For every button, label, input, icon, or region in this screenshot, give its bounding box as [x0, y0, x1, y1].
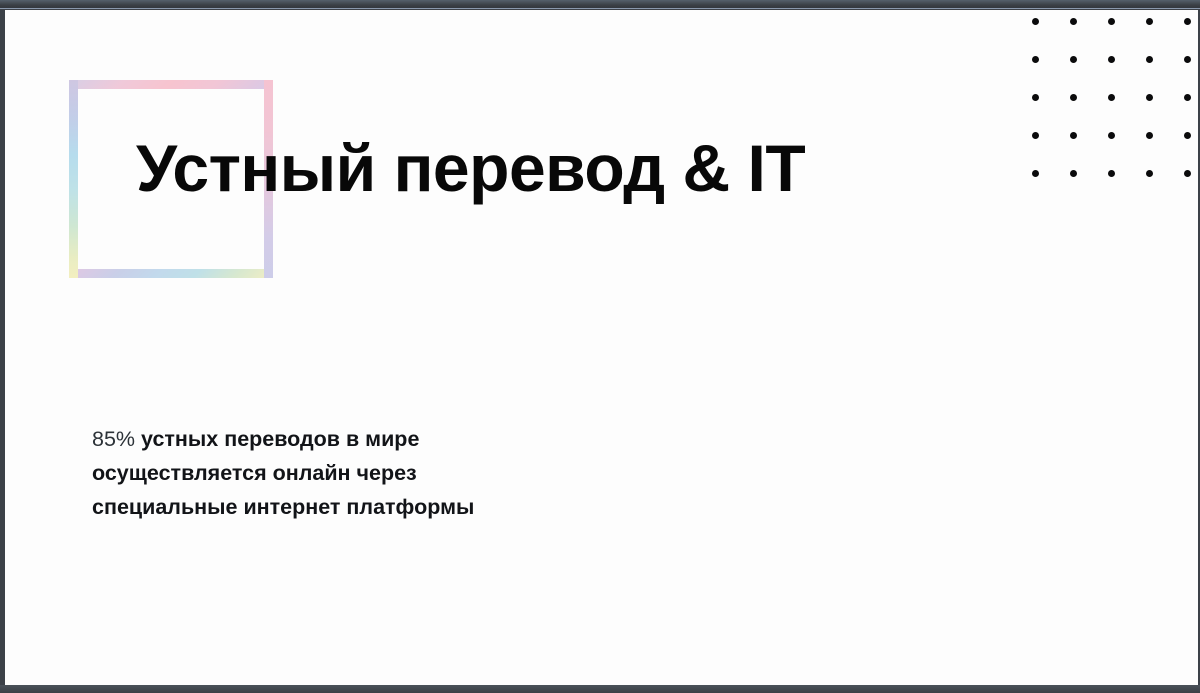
decorative-dot [1108, 56, 1115, 63]
decorative-dot [1070, 56, 1077, 63]
decorative-dot [1032, 170, 1039, 177]
decorative-dot [1032, 132, 1039, 139]
statistic-percent-value: 85% [92, 427, 135, 451]
viewer-top-bar [0, 0, 1200, 9]
slide-canvas: Устный перевод & IT 85% устных переводов… [5, 10, 1198, 685]
statistic-line-2: осуществляется онлайн через [92, 456, 652, 490]
decorative-dot [1184, 94, 1191, 101]
decorative-dot [1070, 132, 1077, 139]
decorative-dot [1146, 18, 1153, 25]
decorative-dot [1108, 132, 1115, 139]
decorative-dot [1032, 56, 1039, 63]
decorative-dot [1070, 170, 1077, 177]
decorative-dot [1032, 18, 1039, 25]
statistic-line-1-text: устных переводов в мире [135, 427, 419, 451]
page-title: Устный перевод & IT [136, 135, 805, 201]
decorative-dot [1184, 132, 1191, 139]
decorative-dot [1146, 56, 1153, 63]
statistic-text-block: 85% устных переводов в мире осуществляет… [92, 422, 652, 524]
decorative-dot [1146, 132, 1153, 139]
decorative-dot [1184, 170, 1191, 177]
statistic-line-3: специальные интернет платформы [92, 490, 652, 524]
decorative-dot [1146, 94, 1153, 101]
decorative-dot [1184, 18, 1191, 25]
decorative-dot [1146, 170, 1153, 177]
viewer-left-edge [0, 9, 5, 685]
decorative-dot [1108, 170, 1115, 177]
decorative-dot [1108, 18, 1115, 25]
decorative-dot [1032, 94, 1039, 101]
presentation-viewer: Устный перевод & IT 85% устных переводов… [0, 0, 1200, 693]
viewer-bottom-bar [0, 685, 1200, 693]
decorative-dot [1108, 94, 1115, 101]
statistic-line-2-text: осуществляется онлайн через [92, 461, 417, 485]
dot-grid-decoration [1032, 18, 1198, 190]
decorative-dot [1070, 94, 1077, 101]
statistic-line-3-text: специальные интернет платформы [92, 495, 474, 519]
decorative-dot [1184, 56, 1191, 63]
statistic-line-1: 85% устных переводов в мире [92, 422, 652, 456]
decorative-dot [1070, 18, 1077, 25]
